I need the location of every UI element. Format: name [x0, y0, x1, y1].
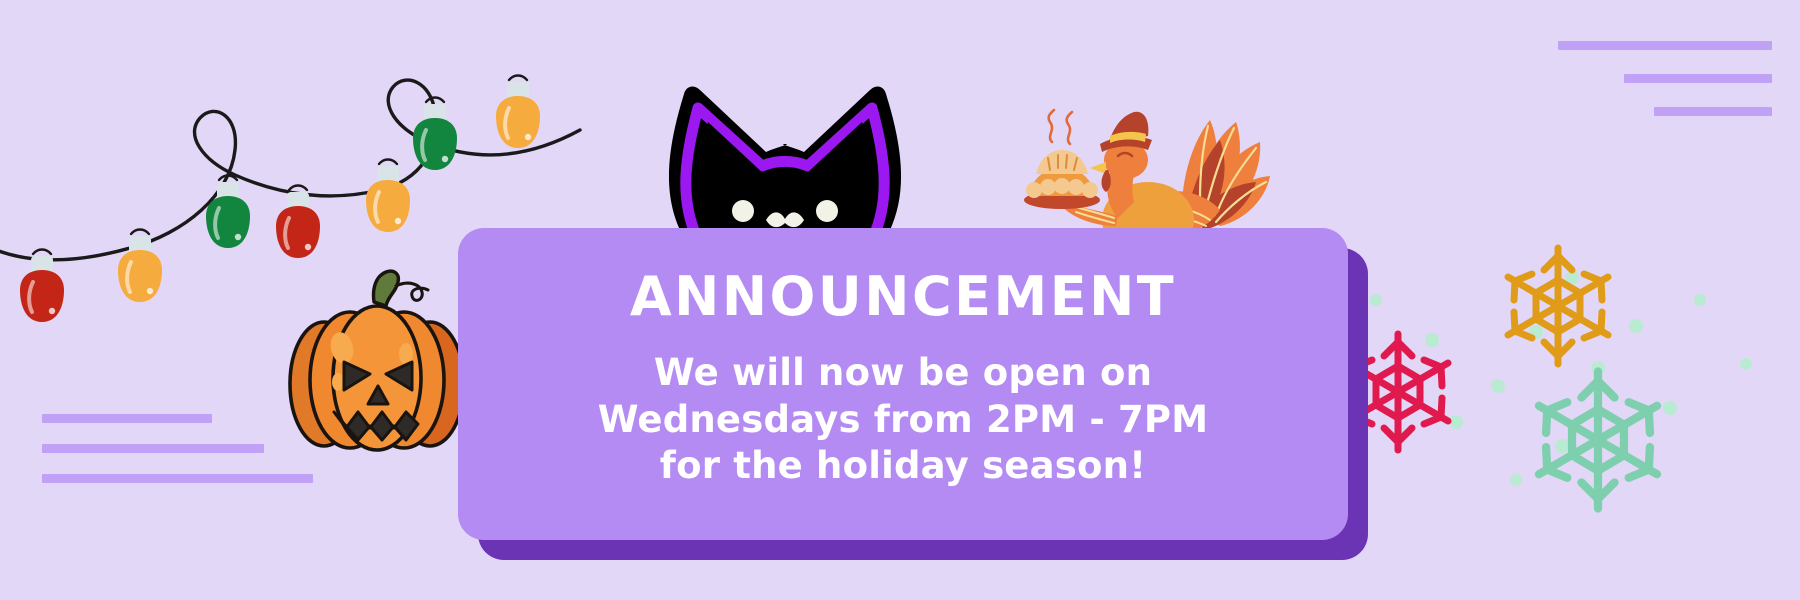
announcement-line-3: for the holiday season! — [660, 443, 1146, 490]
announcement-line-2: Wednesdays from 2PM - 7PM — [598, 397, 1209, 444]
announcement-banner: ANNOUNCEMENT We will now be open on Wedn… — [0, 0, 1800, 600]
cat-eye-right — [816, 200, 838, 222]
mint-snowflake — [1539, 372, 1657, 509]
announcement-title: ANNOUNCEMENT — [630, 270, 1176, 324]
pie-crust-top — [1036, 150, 1088, 174]
announcement-line-1: We will now be open on — [654, 350, 1152, 397]
bottom-left-bar-1 — [42, 414, 212, 423]
top-right-bar-1 — [1558, 41, 1772, 50]
black-cat-illustration — [640, 78, 930, 238]
cat-eye-left — [732, 200, 754, 222]
pie-steam — [1049, 110, 1072, 144]
jack-o-lantern-illustration — [282, 262, 472, 462]
top-right-bar-3 — [1654, 107, 1772, 116]
golden-snowflake — [1508, 248, 1608, 364]
announcement-card: ANNOUNCEMENT We will now be open on Wedn… — [458, 228, 1348, 540]
top-right-bar-2 — [1624, 74, 1772, 83]
bottom-left-bar-3 — [42, 474, 313, 483]
bottom-left-bar-2 — [42, 444, 264, 453]
